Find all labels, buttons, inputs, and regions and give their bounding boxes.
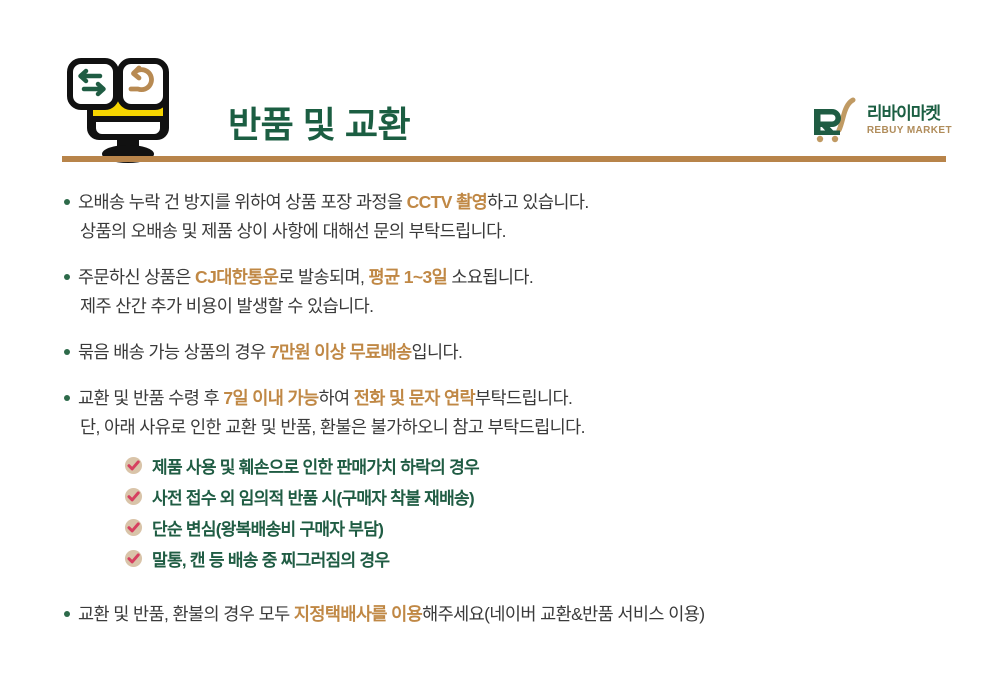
page-header: 반품 및 교환 리바이마켓 REBUY MARKET: [0, 0, 1000, 172]
policy-bullet: 묶음 배송 가능 상품의 경우 7만원 이상 무료배송입니다.: [0, 338, 1000, 367]
checklist-item: 사전 접수 외 임의적 반품 시(구매자 착불 재배송): [124, 481, 1000, 512]
body-text: 주문하신 상품은: [78, 267, 195, 287]
highlighted-text: 7일 이내 가능: [223, 388, 318, 408]
body-text: 부탁드립니다.: [475, 388, 572, 408]
checklist-item-label: 제품 사용 및 훼손으로 인한 판매가치 하락의 경우: [152, 453, 479, 478]
body-text: 교환 및 반품, 환불의 경우 모두: [78, 604, 294, 624]
highlighted-text: CJ대한통운: [195, 267, 278, 287]
highlighted-text: 평균 1~3일: [369, 267, 448, 287]
exchange-return-monitor-icon: [62, 55, 190, 163]
check-circle-icon: [124, 487, 143, 506]
body-text: 소요됩니다.: [447, 267, 533, 287]
checklist-item-label: 말통, 캔 등 배송 중 찌그러짐의 경우: [152, 546, 389, 571]
policy-line: 상품의 오배송 및 제품 상이 사항에 대해선 문의 부탁드립니다.: [78, 217, 1000, 246]
highlighted-text: 지정택배사를 이용: [294, 604, 422, 624]
policy-bullet: 주문하신 상품은 CJ대한통운로 발송되며, 평균 1~3일 소요됩니다.제주 …: [0, 263, 1000, 321]
spacer: [78, 574, 1000, 583]
checklist-item-label: 단순 변심(왕복배송비 구매자 부담): [152, 515, 383, 540]
policy-bullet: 교환 및 반품 수령 후 7일 이내 가능하여 전화 및 문자 연락부탁드립니다…: [0, 384, 1000, 583]
bullet-dot-icon: [64, 349, 70, 355]
body-text: 오배송 누락 건 방지를 위하여 상품 포장 과정을: [78, 192, 407, 212]
bullet-dot-icon: [64, 395, 70, 401]
body-text: 로 발송되며,: [278, 267, 368, 287]
page-title: 반품 및 교환: [228, 96, 410, 148]
body-text: 묶음 배송 가능 상품의 경우: [78, 342, 270, 362]
check-circle-icon: [124, 456, 143, 475]
body-text: 교환 및 반품 수령 후: [78, 388, 223, 408]
policy-bullet: 오배송 누락 건 방지를 위하여 상품 포장 과정을 CCTV 촬영하고 있습니…: [0, 188, 1000, 246]
policy-line: 묶음 배송 가능 상품의 경우 7만원 이상 무료배송입니다.: [78, 338, 1000, 367]
brand-name-en: REBUY MARKET: [867, 126, 952, 136]
bullet-dot-icon: [64, 274, 70, 280]
check-circle-icon: [124, 549, 143, 568]
bullet-dot-icon: [64, 199, 70, 205]
rebuy-cart-logo-icon: [808, 96, 860, 144]
checklist-item: 말통, 캔 등 배송 중 찌그러짐의 경우: [124, 543, 1000, 574]
checklist-item-label: 사전 접수 외 임의적 반품 시(구매자 착불 재배송): [152, 484, 474, 509]
checklist-item: 제품 사용 및 훼손으로 인한 판매가치 하락의 경우: [124, 450, 1000, 481]
policy-line: 제주 산간 추가 비용이 발생할 수 있습니다.: [78, 292, 1000, 321]
body-text: 하고 있습니다.: [487, 192, 589, 212]
body-text: 제주 산간 추가 비용이 발생할 수 있습니다.: [80, 296, 373, 316]
brand-logo: 리바이마켓 REBUY MARKET: [808, 96, 952, 144]
highlighted-text: 전화 및 문자 연락: [354, 388, 475, 408]
body-text: 상품의 오배송 및 제품 상이 사항에 대해선 문의 부탁드립니다.: [80, 221, 506, 241]
check-circle-icon: [124, 518, 143, 537]
policy-line: 주문하신 상품은 CJ대한통운로 발송되며, 평균 1~3일 소요됩니다.: [78, 263, 1000, 292]
policy-line: 교환 및 반품, 환불의 경우 모두 지정택배사를 이용해주세요(네이버 교환&…: [78, 600, 1000, 629]
body-text: 해주세요(네이버 교환&반품 서비스 이용): [422, 604, 704, 624]
exclusion-checklist: 제품 사용 및 훼손으로 인한 판매가치 하락의 경우 사전 접수 외 임의적 …: [78, 450, 1000, 574]
body-text: 단, 아래 사유로 인한 교환 및 반품, 환불은 불가하오니 참고 부탁드립니…: [80, 417, 585, 437]
highlighted-text: 7만원 이상 무료배송: [270, 342, 412, 362]
checklist-item: 단순 변심(왕복배송비 구매자 부담): [124, 512, 1000, 543]
bullet-dot-icon: [64, 611, 70, 617]
policy-line: 단, 아래 사유로 인한 교환 및 반품, 환불은 불가하오니 참고 부탁드립니…: [78, 413, 1000, 442]
brand-text: 리바이마켓 REBUY MARKET: [867, 105, 952, 136]
policy-line: 교환 및 반품 수령 후 7일 이내 가능하여 전화 및 문자 연락부탁드립니다…: [78, 384, 1000, 413]
policy-bullet: 교환 및 반품, 환불의 경우 모두 지정택배사를 이용해주세요(네이버 교환&…: [0, 600, 1000, 629]
body-text: 입니다.: [411, 342, 462, 362]
highlighted-text: CCTV 촬영: [407, 192, 488, 212]
policy-line: 오배송 누락 건 방지를 위하여 상품 포장 과정을 CCTV 촬영하고 있습니…: [78, 188, 1000, 217]
body-text: 하여: [318, 388, 353, 408]
header-divider: [62, 156, 946, 162]
brand-name-kr: 리바이마켓: [867, 105, 940, 122]
policy-content: 오배송 누락 건 방지를 위하여 상품 포장 과정을 CCTV 촬영하고 있습니…: [0, 188, 1000, 629]
